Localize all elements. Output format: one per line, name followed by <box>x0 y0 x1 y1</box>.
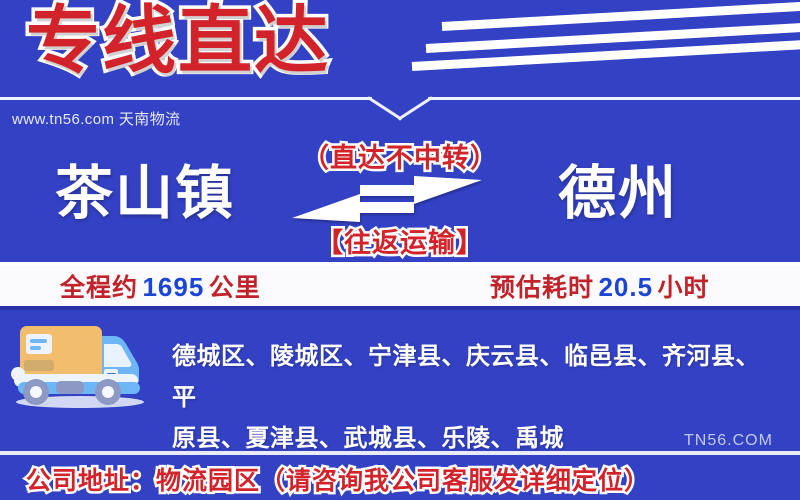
divider-line-left <box>0 97 372 100</box>
distance-value: 1695 <box>142 272 204 302</box>
duration-metric: 预估耗时 20.5 小时 <box>490 268 710 304</box>
site-brand-line: www.tn56.com 天南物流 <box>12 108 181 129</box>
company-address: 公司地址：物流园区（请咨询我公司客服发详细定位） <box>26 461 650 497</box>
footer-divider <box>0 451 800 455</box>
bidirectional-arrow-icon <box>286 176 488 222</box>
logistics-route-poster: 专线直达 www.tn56.com 天南物流 茶山镇 （直达不中转） 【往返运输… <box>0 0 800 500</box>
headline-title: 专线直达 <box>26 4 330 78</box>
destination-city: 德州 <box>558 162 678 226</box>
distance-label: 全程约 <box>60 274 138 302</box>
duration-label: 预估耗时 <box>490 274 594 302</box>
metrics-band: 全程约 1695 公里 预估耗时 20.5 小时 <box>0 262 800 310</box>
divider-line-right <box>428 97 800 100</box>
distance-unit: 公里 <box>209 274 261 302</box>
watermark-label: TN56.COM <box>684 432 773 450</box>
delivery-truck-icon <box>8 312 158 412</box>
chevron-stroke-right <box>398 96 433 120</box>
duration-value: 20.5 <box>598 272 653 302</box>
coverage-line-1: 德城区、陵城区、宁津县、庆云县、临邑县、齐河县、平 <box>172 336 784 418</box>
duration-unit: 小时 <box>658 274 710 302</box>
chevron-down-icon <box>368 96 432 122</box>
round-trip-note: 【往返运输】 <box>0 221 800 260</box>
direct-no-transfer-note: （直达不中转） <box>0 136 800 175</box>
distance-metric: 全程约 1695 公里 <box>60 268 261 304</box>
